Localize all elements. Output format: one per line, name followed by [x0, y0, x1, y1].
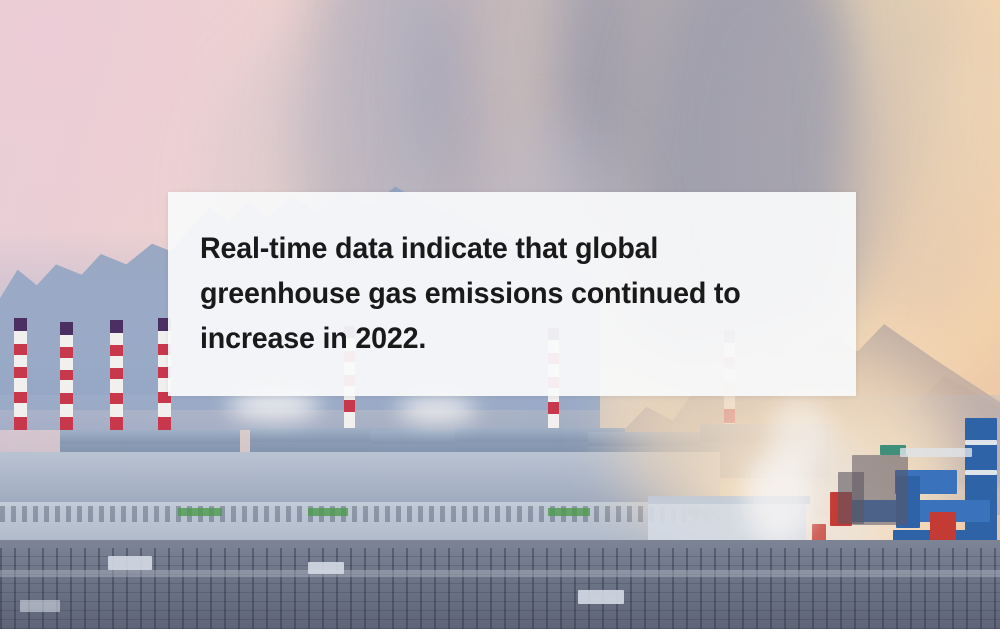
industrial-red-block — [930, 512, 956, 542]
smokestack — [60, 322, 73, 430]
industrial-band — [965, 470, 997, 475]
foreground-structure — [578, 590, 624, 604]
foreground-structure — [108, 556, 152, 570]
green-accent-strip — [178, 508, 222, 516]
foreground-structure — [20, 600, 60, 612]
plant-window-row — [0, 506, 760, 522]
screenshot-stage: Real-time data indicate that global gree… — [0, 0, 1000, 629]
callout-card: Real-time data indicate that global gree… — [168, 192, 856, 396]
green-accent-strip — [548, 508, 590, 516]
access-road — [0, 570, 1000, 577]
smokestack — [14, 318, 27, 430]
smokestack — [110, 320, 123, 430]
foreground-structure — [308, 562, 344, 574]
industrial-walkway — [900, 448, 972, 457]
steam-wisp — [770, 400, 828, 470]
callout-text: Real-time data indicate that global gree… — [200, 226, 792, 361]
green-accent-strip — [308, 508, 348, 516]
industrial-band — [965, 440, 997, 445]
steam-wisp — [398, 396, 476, 422]
industrial-structure — [838, 472, 864, 524]
